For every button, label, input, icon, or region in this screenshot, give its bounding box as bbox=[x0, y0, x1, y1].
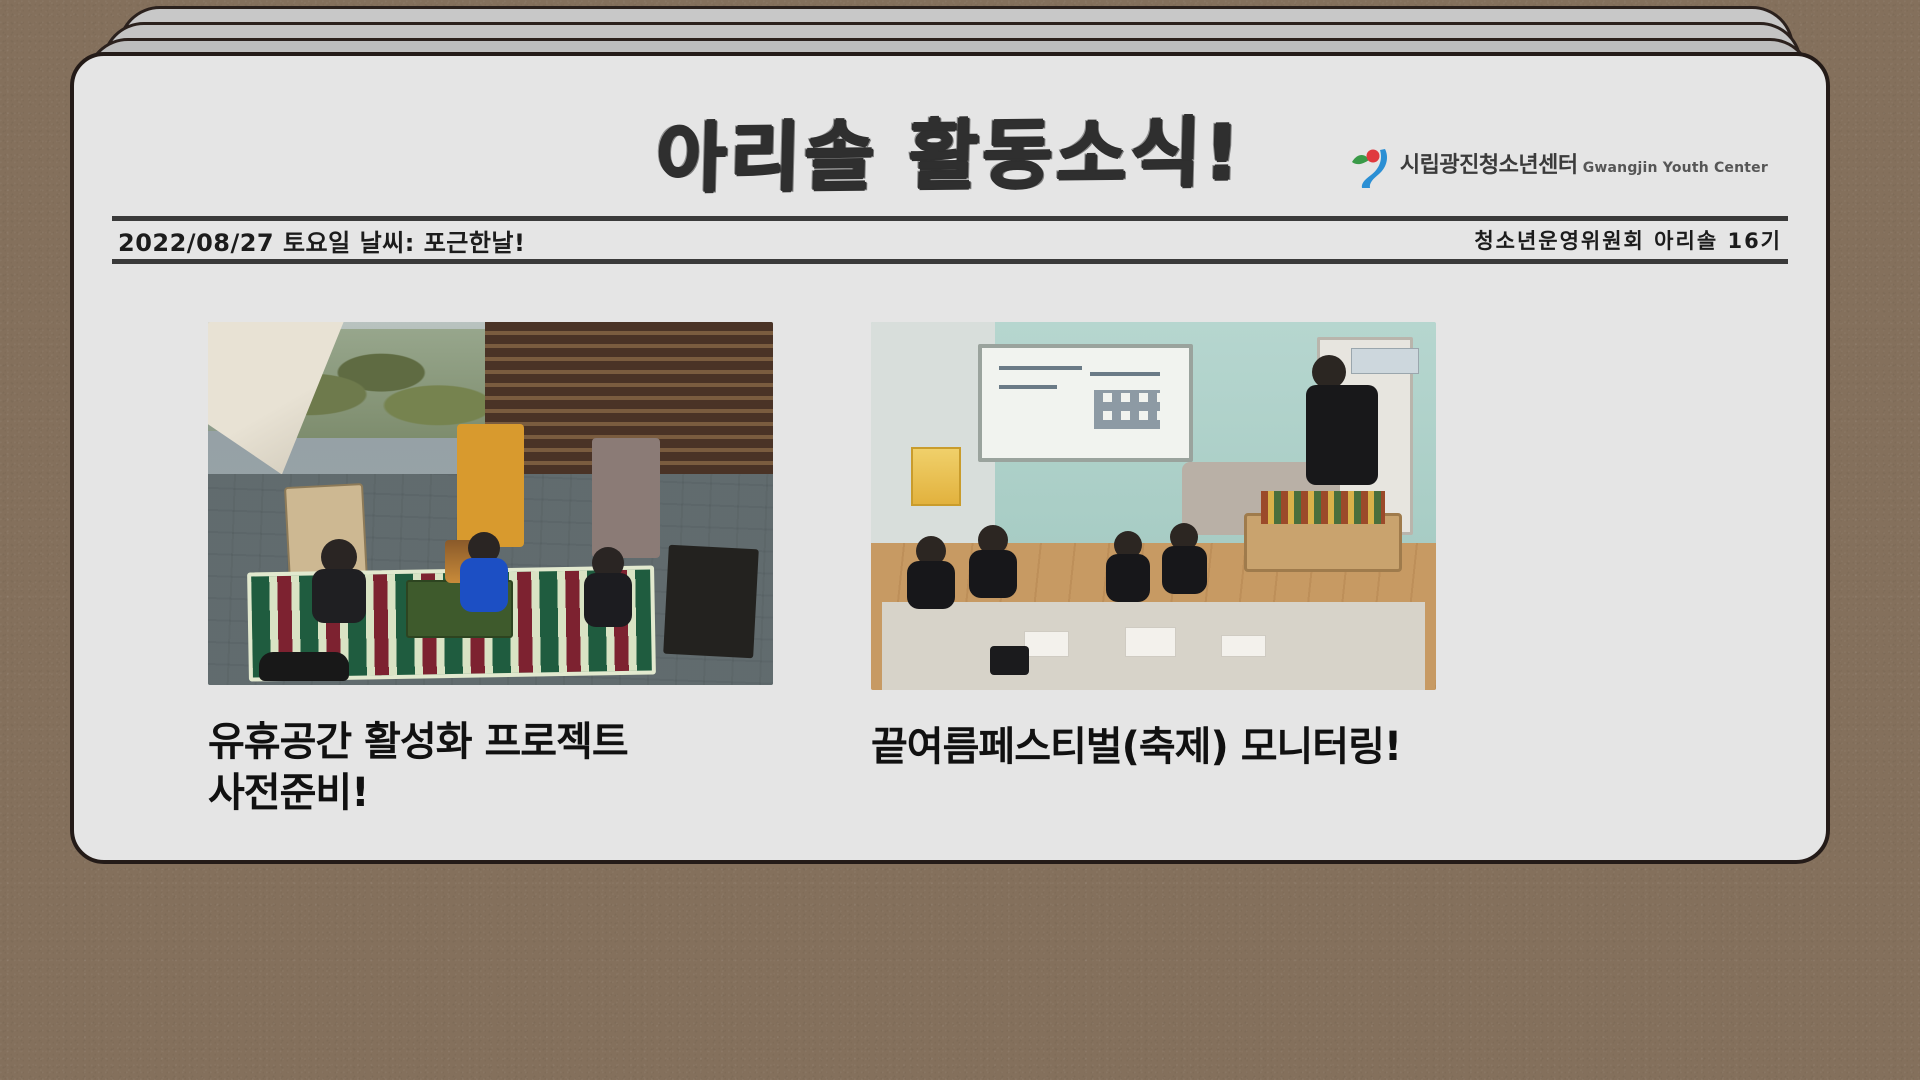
photo2-supplies-on-table bbox=[1261, 491, 1385, 524]
logo-name-ko: 시립광진청소년센터 bbox=[1400, 153, 1578, 178]
date-weather-text: 2022/08/27 토요일 날씨: 포근한날! bbox=[118, 223, 525, 258]
newsletter-card: 아리솔 활동소식! 시립광진청소년센터 Gwangjin Youth Cente… bbox=[70, 52, 1830, 864]
photo2-person-1 bbox=[916, 536, 946, 609]
photo1-person-2-body bbox=[460, 558, 508, 612]
photo-panels: 유휴공간 활성화 프로젝트 사전준비! bbox=[74, 264, 1826, 819]
photo2-person-1-body bbox=[907, 561, 955, 609]
photo2-standing-person-head bbox=[1312, 355, 1346, 389]
photo1-person-1 bbox=[321, 539, 357, 623]
photo2-whiteboard-grid bbox=[1094, 390, 1160, 430]
photo-indoor-festival-monitoring bbox=[871, 322, 1436, 690]
photo2-whiteboard-line bbox=[999, 385, 1057, 389]
photo2-person-3 bbox=[1114, 531, 1142, 602]
organization-logo: 시립광진청소년센터 Gwangjin Youth Center bbox=[1350, 144, 1768, 188]
photo2-whiteboard-line bbox=[1090, 372, 1160, 376]
photo2-standing-person bbox=[1306, 355, 1351, 495]
organization-text: 청소년운영위원회 아리솔 16기 bbox=[1474, 225, 1782, 255]
photo2-paper-sheet bbox=[1125, 627, 1176, 656]
photo2-wall-sign bbox=[1351, 348, 1419, 374]
photo2-standing-person-body bbox=[1306, 385, 1378, 485]
photo2-person-4 bbox=[1170, 523, 1198, 594]
photo1-camping-chair-black bbox=[663, 545, 759, 658]
panel-left-caption: 유휴공간 활성화 프로젝트 사전준비! bbox=[208, 717, 773, 819]
photo2-person-2 bbox=[978, 525, 1008, 598]
panel-right-caption: 끝여름페스티벌(축제) 모니터링! bbox=[871, 722, 1436, 773]
photo1-camping-chair-yellow bbox=[457, 424, 525, 547]
logo-name-en: Gwangjin Youth Center bbox=[1583, 160, 1768, 176]
photo2-whiteboard-line bbox=[999, 366, 1082, 370]
photo1-shoes bbox=[259, 652, 349, 681]
photo2-poster bbox=[911, 447, 962, 506]
photo2-camera bbox=[990, 646, 1030, 675]
panel-left: 유휴공간 활성화 프로젝트 사전준비! bbox=[208, 322, 773, 819]
photo2-whiteboard bbox=[978, 344, 1193, 462]
photo1-person-3 bbox=[592, 547, 624, 627]
logo-text-block: 시립광진청소년센터 Gwangjin Youth Center bbox=[1400, 154, 1768, 178]
photo1-person-3-body bbox=[584, 573, 632, 627]
photo-outdoor-project-prep bbox=[208, 322, 773, 685]
photo2-person-3-body bbox=[1106, 554, 1151, 602]
panel-right: 끝여름페스티벌(축제) 모니터링! bbox=[871, 322, 1436, 819]
photo1-person-2 bbox=[468, 532, 500, 612]
photo2-paper-sheet bbox=[1221, 635, 1266, 657]
photo2-paper-sheet bbox=[1024, 631, 1069, 657]
photo1-camping-chair-mauve bbox=[592, 438, 660, 558]
meta-bar: 2022/08/27 토요일 날씨: 포근한날! 청소년운영위원회 아리솔 16… bbox=[112, 216, 1788, 264]
photo2-person-4-body bbox=[1162, 546, 1207, 594]
card-header: 아리솔 활동소식! 시립광진청소년센터 Gwangjin Youth Cente… bbox=[74, 56, 1826, 216]
gwangjin-logo-icon bbox=[1350, 144, 1390, 188]
photo2-side-wall bbox=[871, 322, 995, 550]
photo1-person-1-body bbox=[312, 569, 366, 623]
photo2-person-2-body bbox=[969, 550, 1017, 598]
